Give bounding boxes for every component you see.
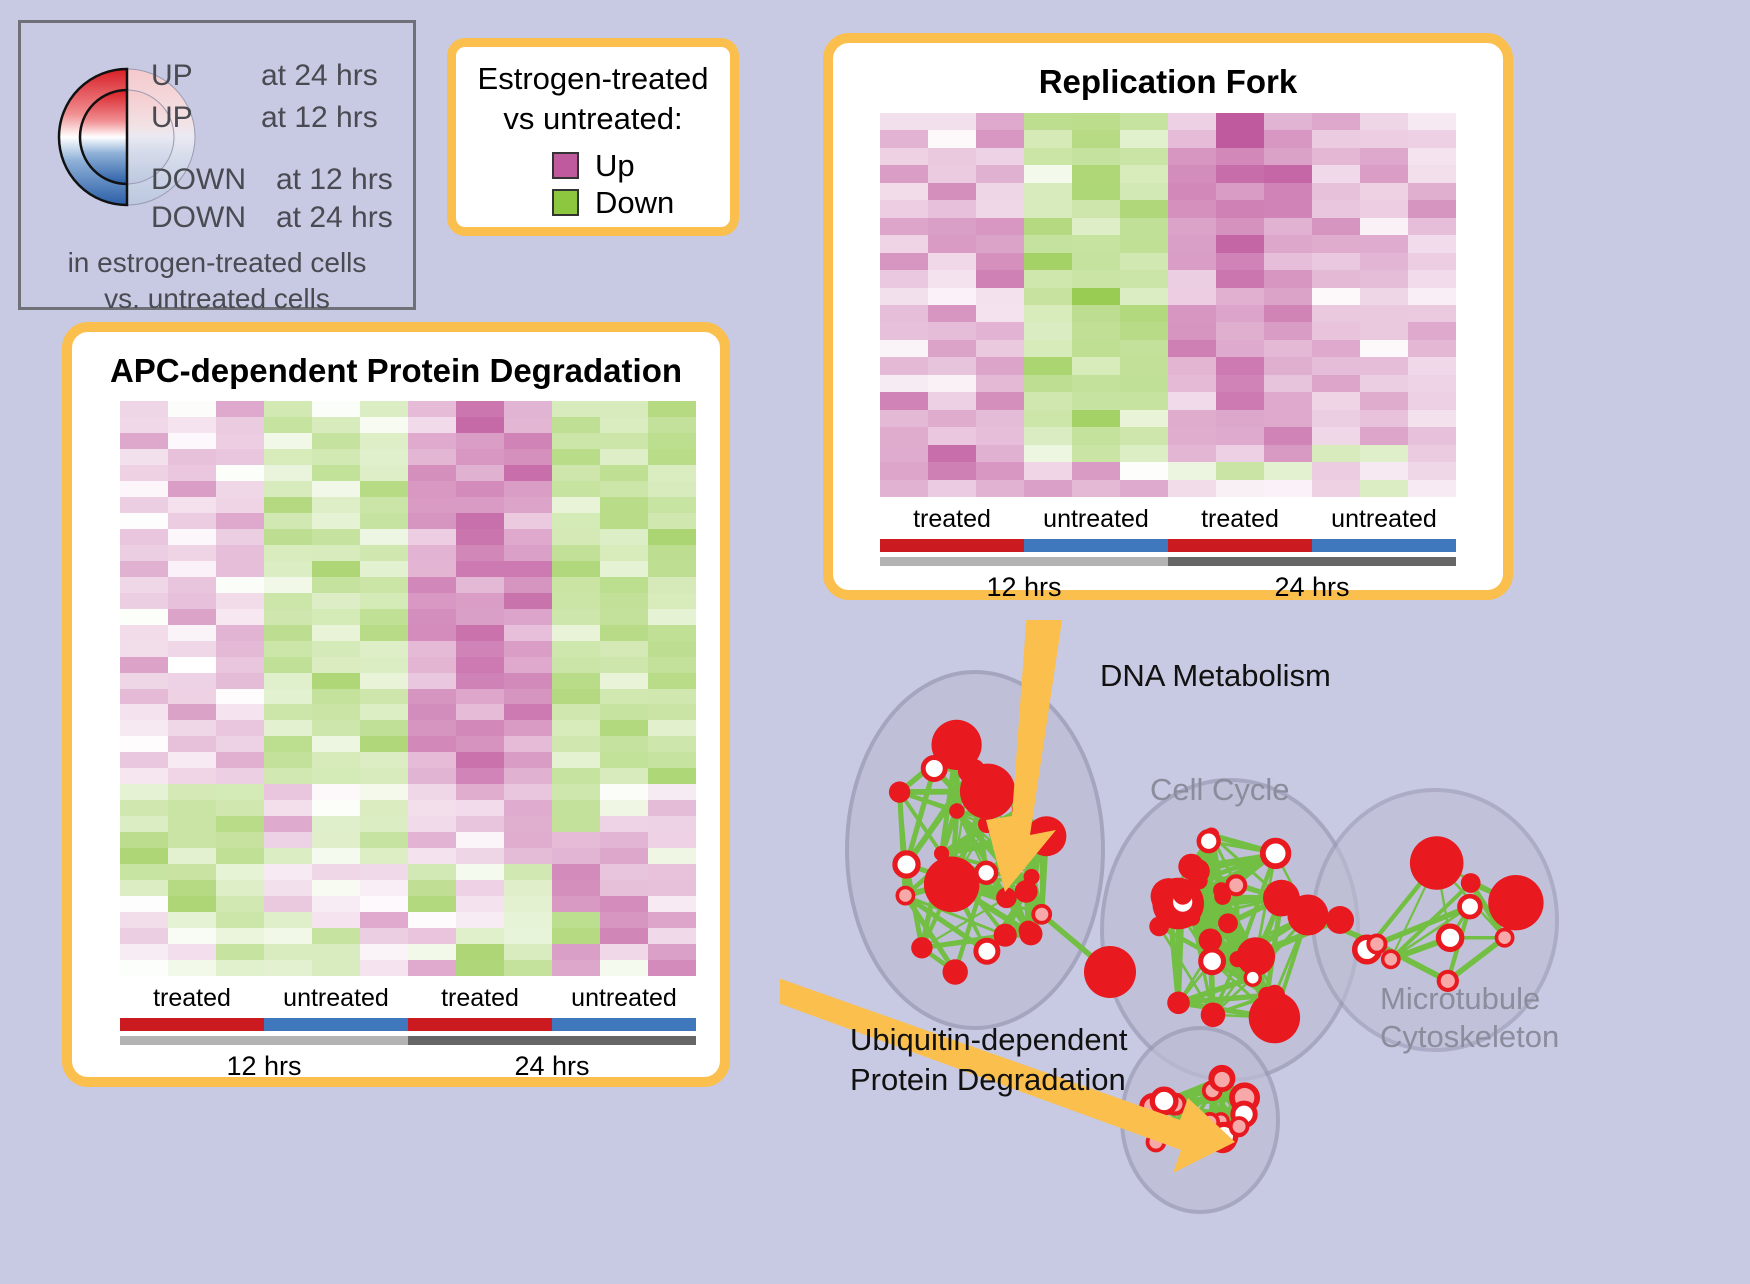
group-bars-apc [120,1018,696,1031]
pathway-network-diagram: DNA Metabolism Cell Cycle Microtubule Cy… [780,620,1750,1279]
key-row-0-label: UP [151,59,193,92]
group-label-3: untreated [1331,505,1437,534]
group-bar-treated-24h [1168,539,1312,552]
key-row-3-time: at 24 hrs [276,201,393,234]
panel-apc-title: APC-dependent Protein Degradation [72,352,720,390]
apc-group-bar-treated-24h [408,1018,552,1031]
group-label-2: treated [1201,505,1279,534]
panel-replication-fork: Replication Fork treated untreated treat… [823,33,1513,600]
group-bars-replication-fork [880,539,1456,552]
apc-time-bar-24h [408,1036,696,1045]
heatmap-apc-dependent [120,401,696,976]
key-footer-line2: vs. untreated cells [21,281,413,317]
time-bar-24h [1168,557,1456,566]
apc-group-label-3: untreated [571,984,677,1013]
group-bar-treated-12h [880,539,1024,552]
legend-title-line2: vs untreated: [456,99,730,139]
group-labels-apc: treated untreated treated untreated [120,984,696,1014]
up-swatch-icon [552,152,579,179]
key-row-1-time: at 12 hrs [261,101,378,134]
panel-replication-fork-title: Replication Fork [833,63,1503,101]
legend-item-up: Up [552,147,674,184]
key-row-0-time: at 24 hrs [261,59,378,92]
cluster-label-microtubule: Microtubule [1380,980,1559,1018]
cluster-label-cell-cycle: Cell Cycle [1150,772,1290,808]
key-row-2-time: at 12 hrs [276,163,393,196]
apc-time-label-12h: 12 hrs [226,1051,301,1082]
key-footer-line1: in estrogen-treated cells [21,245,413,281]
group-label-1: untreated [1043,505,1149,534]
cluster-label-microtubule-cytoskeleton: Microtubule Cytoskeleton [1380,980,1559,1056]
apc-group-label-0: treated [153,984,231,1013]
key-footer: in estrogen-treated cells vs. untreated … [21,245,413,317]
apc-group-label-1: untreated [283,984,389,1013]
legend-items: Up Down [552,147,674,221]
time-label-12h: 12 hrs [986,572,1061,603]
figure-canvas: UP at 24 hrs UP at 12 hrs DOWN at 12 hrs… [0,0,1750,1279]
cluster-label-dna-metabolism: DNA Metabolism [1100,658,1331,694]
apc-group-bar-untreated-24h [552,1018,696,1031]
apc-time-bar-12h [120,1036,408,1045]
time-labels-apc: 12 hrs 24 hrs [120,1051,696,1083]
group-labels-replication-fork: treated untreated treated untreated [880,505,1456,535]
cluster-label-ubiquitin: Ubiquitin-dependent [850,1020,1128,1060]
time-bar-12h [880,557,1168,566]
key-row-1-label: UP [151,101,193,134]
cluster-label-ubiquitin-protein-degradation: Ubiquitin-dependent Protein Degradation [850,1020,1128,1100]
time-label-24h: 24 hrs [1274,572,1349,603]
legend-title: Estrogen-treated vs untreated: [456,59,730,139]
cluster-label-cytoskeleton: Cytoskeleton [1380,1018,1559,1056]
group-bar-untreated-24h [1312,539,1456,552]
apc-group-bar-treated-12h [120,1018,264,1031]
group-bar-untreated-12h [1024,539,1168,552]
updown-legend-card: Estrogen-treated vs untreated: Up Down [447,38,739,236]
apc-time-label-24h: 24 hrs [514,1051,589,1082]
down-swatch-icon [552,189,579,216]
key-row-2-label: DOWN [151,163,246,196]
expression-key-box: UP at 24 hrs UP at 12 hrs DOWN at 12 hrs… [18,20,416,310]
legend-up-label: Up [595,150,635,181]
group-label-0: treated [913,505,991,534]
key-row-3-label: DOWN [151,201,246,234]
apc-group-label-2: treated [441,984,519,1013]
time-bars-replication-fork [880,557,1456,566]
axis-replication-fork: treated untreated treated untreated 12 h… [880,505,1456,604]
legend-item-down: Down [552,184,674,221]
time-labels-replication-fork: 12 hrs 24 hrs [880,572,1456,604]
time-bars-apc [120,1036,696,1045]
apc-group-bar-untreated-12h [264,1018,408,1031]
axis-apc-dependent: treated untreated treated untreated 12 h… [120,984,696,1083]
legend-down-label: Down [595,187,674,218]
network-graph-svg [780,620,1750,1279]
panel-apc-dependent: APC-dependent Protein Degradation treate… [62,322,730,1087]
cluster-label-protein-degradation: Protein Degradation [850,1060,1128,1100]
heatmap-replication-fork [880,113,1456,497]
legend-title-line1: Estrogen-treated [456,59,730,99]
